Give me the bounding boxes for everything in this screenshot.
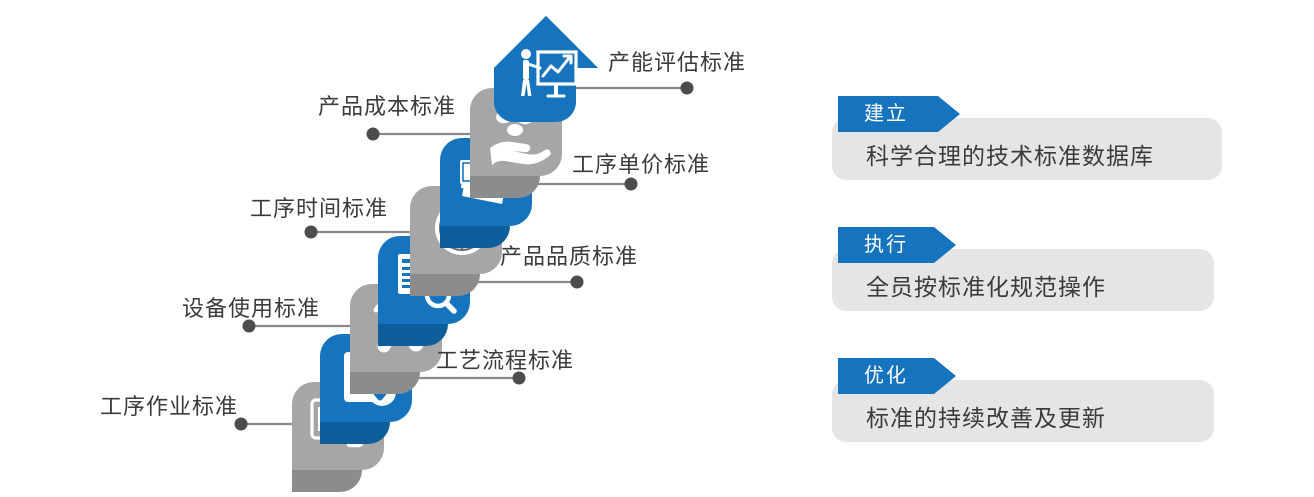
card-optimize-text: 标准的持续改善及更新 xyxy=(866,407,1106,430)
infographic-canvas: $ xyxy=(0,0,1314,497)
step-label-3: 设备使用标准 xyxy=(182,298,320,320)
step-label-4: 产品品质标准 xyxy=(500,246,638,268)
step-label-6: 工序单价标准 xyxy=(572,154,710,176)
step-label-1: 工序作业标准 xyxy=(100,396,238,418)
step-tile-8[interactable] xyxy=(492,14,600,122)
step-label-7: 产品成本标准 xyxy=(318,96,456,118)
card-establish-text: 科学合理的技术标准数据库 xyxy=(866,145,1154,168)
step-label-2: 工艺流程标准 xyxy=(436,350,574,372)
card-execute-tag[interactable]: 执行 xyxy=(838,227,956,263)
card-execute-text: 全员按标准化规范操作 xyxy=(866,276,1106,299)
card-optimize-tag[interactable]: 优化 xyxy=(838,358,956,394)
step-label-8: 产能评估标准 xyxy=(608,52,746,74)
step-label-5: 工序时间标准 xyxy=(250,198,388,220)
card-establish-tag[interactable]: 建立 xyxy=(838,96,960,132)
